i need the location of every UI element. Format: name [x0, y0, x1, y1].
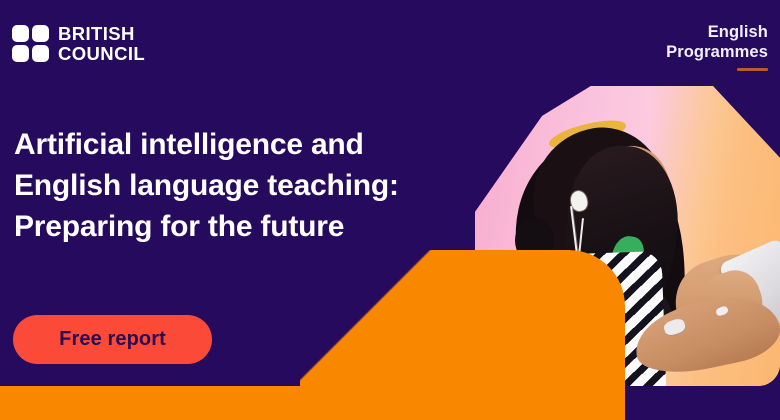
free-report-button[interactable]: Free report: [13, 315, 212, 364]
page-title: Artificial intelligence and English lang…: [14, 124, 404, 247]
logo-dot-4: [32, 45, 49, 62]
four-squares-icon: [12, 25, 49, 62]
logo-dot-1: [12, 25, 29, 42]
orange-base-bar: [0, 386, 625, 420]
hero-artwork: [440, 0, 780, 420]
logo-dot-2: [32, 25, 49, 42]
logo-wordmark: BRITISH COUNCIL: [58, 24, 145, 63]
british-council-logo[interactable]: BRITISH COUNCIL: [12, 24, 145, 63]
logo-dot-3: [12, 45, 29, 62]
british-council-promo-banner: BRITISH COUNCIL English Programmes Artif…: [0, 0, 780, 420]
